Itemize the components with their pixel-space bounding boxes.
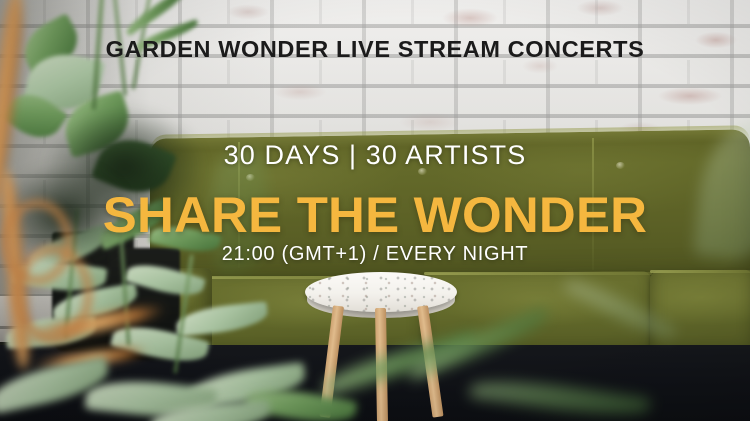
poster-timeline: 21:00 (GMT+1) / EVERY NIGHT: [0, 243, 750, 266]
stool-leg: [319, 305, 344, 418]
stool-leg: [375, 308, 388, 421]
sofa-cushion-piping: [650, 270, 750, 273]
stool-leg: [417, 305, 443, 417]
stool-terrazzo-top: [305, 272, 457, 312]
poster-kicker: GARDEN WONDER LIVE STREAM CONCERTS: [0, 36, 750, 63]
terrazzo-stool: [305, 272, 465, 421]
poster-headline: SHARE THE WONDER: [0, 186, 750, 244]
poster-subline: 30 DAYS | 30 ARTISTS: [0, 140, 750, 171]
sofa-tuft-button: [246, 174, 255, 181]
promo-poster: GARDEN WONDER LIVE STREAM CONCERTS 30 DA…: [0, 0, 750, 421]
